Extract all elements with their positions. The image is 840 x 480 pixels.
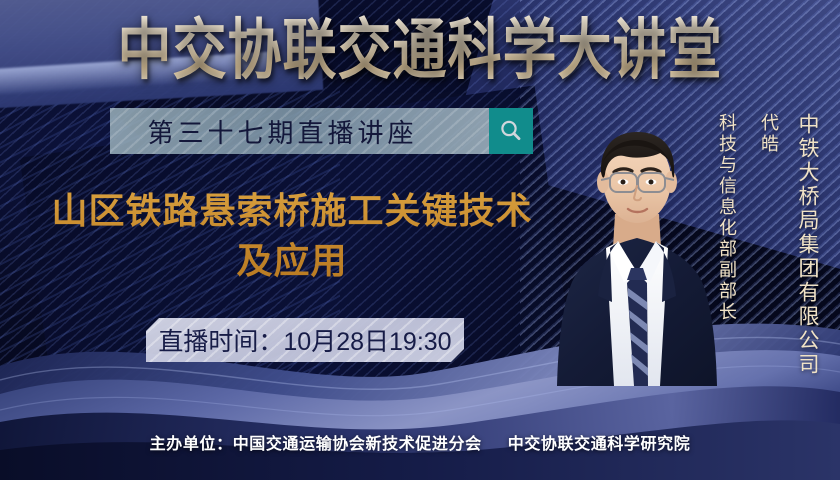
speaker-name: 代皓 (756, 113, 782, 323)
speaker-info: 代皓 科技与信息化部副部长 (714, 113, 782, 323)
search-button[interactable] (489, 108, 533, 154)
footer-prefix: 主办单位： (150, 436, 233, 453)
live-lecture-poster: 中交协联交通科学大讲堂 中交协联交通科学大讲堂 第三十七期直播讲座 山区铁路悬索… (0, 0, 840, 480)
session-badge: 第三十七期直播讲座 (110, 108, 533, 154)
live-time-badge: 直播时间：10月28日19:30 (146, 318, 464, 362)
search-icon (498, 118, 524, 144)
session-badge-label: 第三十七期直播讲座 (147, 113, 451, 150)
footer-organizers: 主办单位：中国交通运输协会新技术促进分会中交协联交通科学研究院 (0, 430, 840, 454)
lecture-title-line-2: 及应用 (22, 236, 562, 286)
lecture-title-line-1: 山区铁路悬索桥施工关键技术 (22, 186, 562, 236)
footer-organizer-2: 中交协联交通科学研究院 (508, 436, 691, 453)
session-badge-fill: 第三十七期直播讲座 (110, 108, 489, 154)
lecture-title: 山区铁路悬索桥施工关键技术 及应用 (22, 186, 562, 285)
footer-organizer-1: 中国交通运输协会新技术促进分会 (233, 436, 482, 453)
speaker-job-title: 科技与信息化部副部长 (714, 113, 740, 323)
speaker-photo (548, 96, 726, 386)
live-time-text: 直播时间：10月28日19:30 (158, 322, 451, 358)
page-title: 中交协联交通科学大讲堂 (0, 14, 840, 88)
speaker-organization: 中铁大桥局集团有限公司 (792, 113, 822, 377)
